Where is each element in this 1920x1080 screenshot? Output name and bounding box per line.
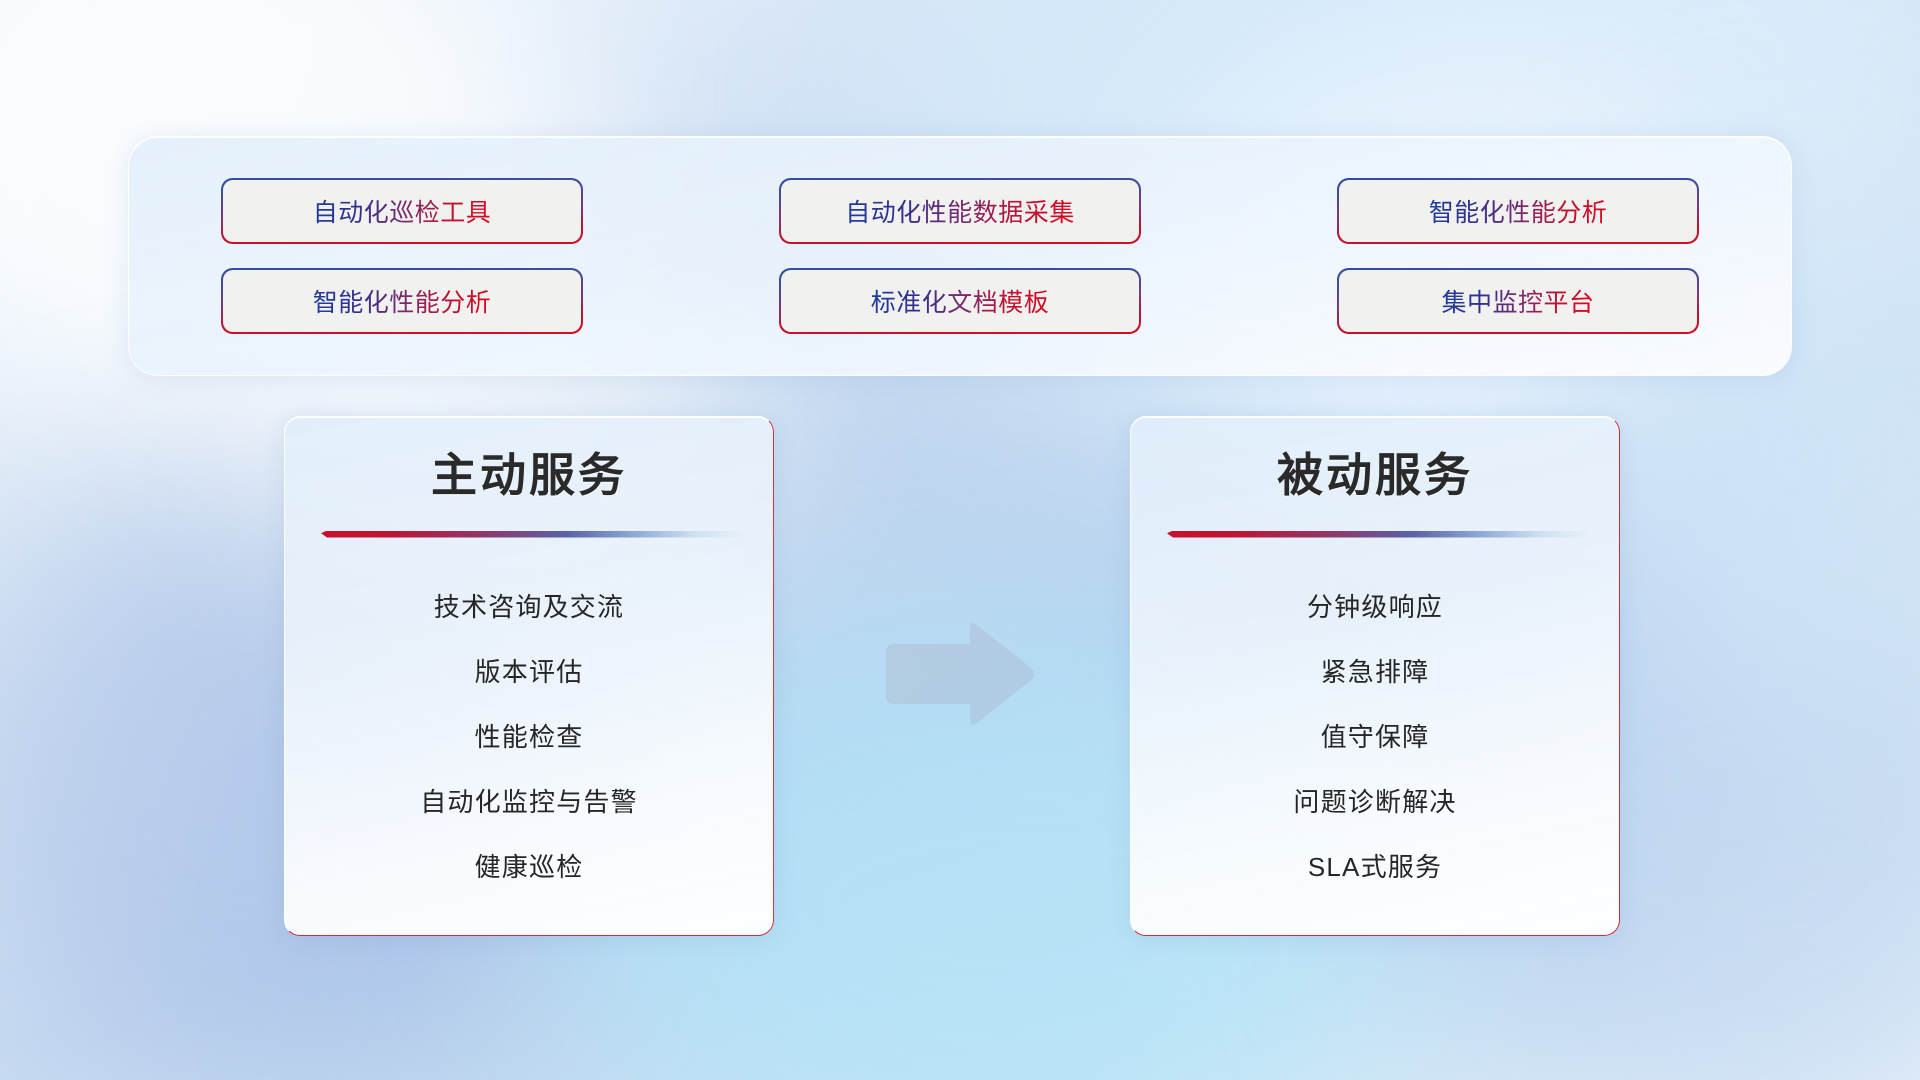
capability-panel: 自动化巡检工具 自动化性能数据采集 智能化性能分析 智能化性能分析 标准化文档模… [128,136,1792,376]
list-item: 分钟级响应 [1165,575,1585,640]
capability-pill[interactable]: 智能化性能分析 [223,270,581,332]
flow-arrow [876,618,1038,730]
capability-pill[interactable]: 智能化性能分析 [1339,180,1697,242]
capability-pill[interactable]: 集中监控平台 [1339,270,1697,332]
capability-pill-label: 自动化巡检工具 [313,193,492,229]
capability-pill-label: 标准化文档模板 [871,283,1050,319]
service-item-list: 技术咨询及交流 版本评估 性能检查 自动化监控与告警 健康巡检 [319,575,739,901]
list-item: SLA式服务 [1165,835,1585,900]
gradient-rule [321,531,745,538]
list-item: 健康巡检 [319,835,739,900]
capability-pill-label: 自动化性能数据采集 [845,193,1075,229]
capability-pill-label: 智能化性能分析 [1429,193,1608,229]
card-divider [319,523,739,549]
list-item: 值守保障 [1165,705,1585,770]
arrow-right-icon [876,618,1038,730]
card-divider [1165,523,1585,549]
list-item: 技术咨询及交流 [319,575,739,640]
capability-pill-label: 集中监控平台 [1441,283,1594,319]
service-card-proactive: 主动服务 技术咨询及交流 版本评估 性能检查 自动化监控与告警 健康巡检 [284,416,774,936]
list-item: 版本评估 [319,640,739,705]
diagram-stage: 自动化巡检工具 自动化性能数据采集 智能化性能分析 智能化性能分析 标准化文档模… [0,0,1920,1080]
card-title: 被动服务 [1165,447,1585,505]
list-item: 紧急排障 [1165,640,1585,705]
capability-pill-grid: 自动化巡检工具 自动化性能数据采集 智能化性能分析 智能化性能分析 标准化文档模… [193,180,1727,332]
list-item: 性能检查 [319,705,739,770]
capability-pill[interactable]: 自动化性能数据采集 [781,180,1139,242]
capability-pill[interactable]: 标准化文档模板 [781,270,1139,332]
card-title: 主动服务 [319,447,739,505]
service-card-reactive: 被动服务 分钟级响应 紧急排障 值守保障 问题诊断解决 SLA式服务 [1130,416,1620,936]
capability-pill[interactable]: 自动化巡检工具 [223,180,581,242]
gradient-rule [1167,531,1591,538]
list-item: 问题诊断解决 [1165,770,1585,835]
capability-pill-label: 智能化性能分析 [313,283,492,319]
service-item-list: 分钟级响应 紧急排障 值守保障 问题诊断解决 SLA式服务 [1165,575,1585,901]
list-item: 自动化监控与告警 [319,770,739,835]
